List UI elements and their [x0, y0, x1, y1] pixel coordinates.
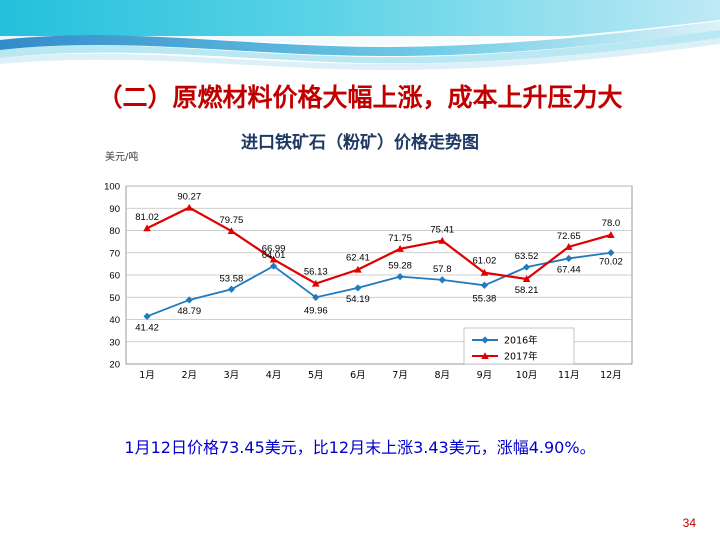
y-tick-label: 60 [109, 271, 120, 282]
page-number: 34 [683, 516, 696, 530]
x-tick-label: 5月 [308, 370, 324, 381]
y-tick-label: 20 [109, 360, 120, 371]
data-label-2017: 56.13 [304, 267, 328, 278]
data-label-2017: 72.65 [557, 231, 581, 242]
legend-label: 2017年 [504, 351, 538, 363]
x-tick-label: 1月 [139, 370, 155, 381]
data-label-2017: 62.41 [346, 253, 370, 264]
data-label-2017: 61.02 [473, 256, 497, 267]
y-tick-label: 40 [109, 315, 120, 326]
line-chart: 20304050607080901001月2月3月4月5月6月7月8月9月10月… [86, 178, 640, 388]
header-decoration [0, 0, 720, 72]
y-tick-label: 50 [109, 293, 120, 304]
data-label-2017: 78.0 [602, 218, 621, 229]
y-tick-label: 30 [109, 337, 120, 348]
data-label-2016: 57.8 [433, 264, 452, 275]
x-tick-label: 10月 [516, 370, 538, 381]
y-tick-label: 80 [109, 226, 120, 237]
data-label-2016: 63.52 [515, 251, 539, 262]
data-label-2016: 49.96 [304, 305, 328, 316]
data-label-2017: 79.75 [220, 215, 244, 226]
data-label-2016: 70.02 [599, 257, 623, 268]
x-tick-label: 11月 [558, 370, 580, 381]
data-label-2017: 71.75 [388, 233, 412, 244]
x-tick-label: 8月 [434, 370, 450, 381]
data-label-2017: 58.21 [515, 285, 539, 296]
x-tick-label: 7月 [392, 370, 408, 381]
y-axis-unit-label: 美元/吨 [105, 148, 138, 163]
x-tick-label: 6月 [350, 370, 366, 381]
legend-label: 2016年 [504, 335, 538, 347]
data-label-2016: 53.58 [220, 273, 244, 284]
data-label-2016: 59.28 [388, 261, 412, 272]
data-label-2016: 48.79 [177, 306, 201, 317]
data-label-2017: 81.02 [135, 212, 159, 223]
x-tick-label: 9月 [477, 370, 493, 381]
x-tick-label: 4月 [266, 370, 282, 381]
x-tick-label: 2月 [181, 370, 197, 381]
data-label-2016: 55.38 [473, 293, 497, 304]
data-label-2016: 41.42 [135, 322, 159, 333]
footnote-text: 1月12日价格73.45美元，比12月末上涨3.43美元，涨幅4.90%。 [0, 434, 720, 458]
data-label-2017: 66.99 [262, 243, 286, 254]
y-tick-label: 70 [109, 248, 120, 259]
data-label-2017: 90.27 [177, 192, 201, 203]
data-label-2017: 75.41 [430, 225, 454, 236]
slide-title: （二）原燃材料价格大幅上涨，成本上升压力大 [0, 78, 720, 114]
y-tick-label: 100 [104, 182, 120, 193]
data-label-2016: 67.44 [557, 264, 581, 275]
x-tick-label: 12月 [600, 370, 622, 381]
y-tick-label: 90 [109, 204, 120, 215]
data-label-2016: 54.19 [346, 294, 370, 305]
x-tick-label: 3月 [224, 370, 240, 381]
